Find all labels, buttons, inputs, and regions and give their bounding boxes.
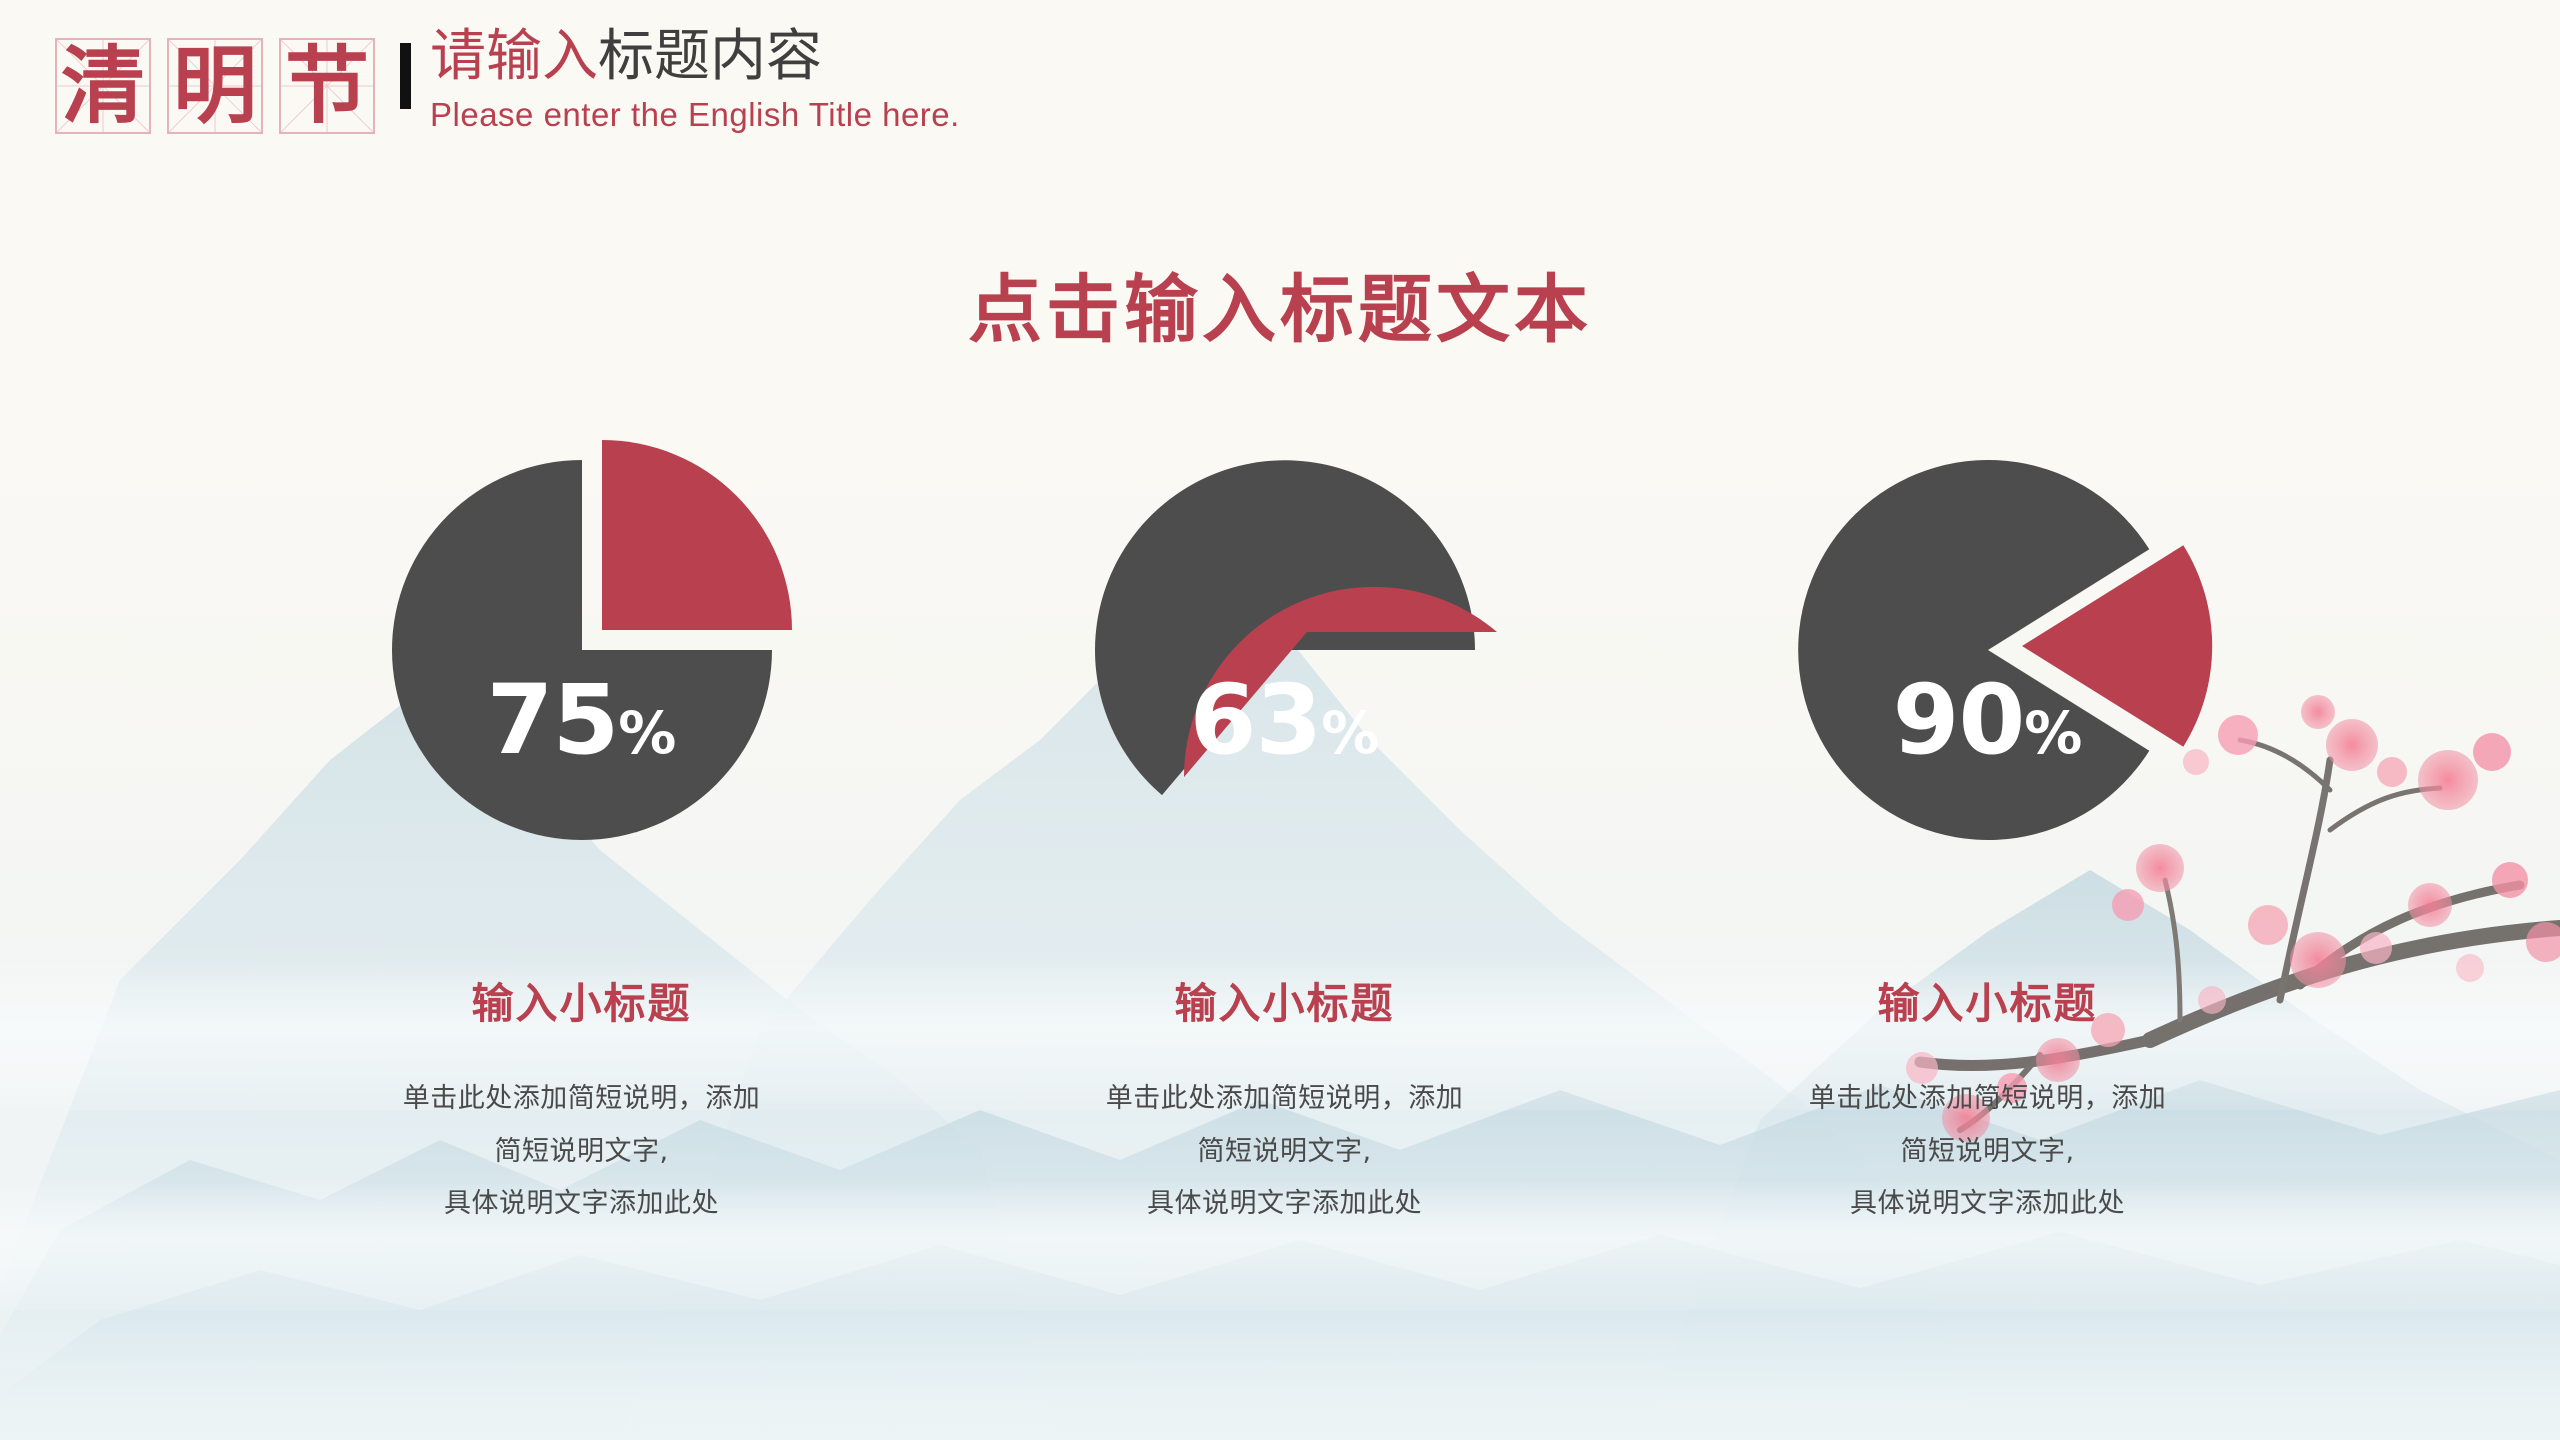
header-divider-bar [400,43,411,109]
pie-chart-1-svg [372,440,792,860]
pie-chart-1[interactable]: 75% [372,440,792,860]
column-body-line: 单击此处添加简短说明，添加 [1708,1073,2268,1126]
pie-column-1: 75% 输入小标题 单击此处添加简短说明，添加 简短说明文字, 具体说明文字添加… [230,440,933,1270]
column-subtitle-2: 输入小标题 [1174,970,1394,1031]
header-title-red: 请输入 [430,24,598,89]
slide-canvas: 清 明 节 [0,0,2560,1440]
header-title-dark: 标题内容 [598,24,822,89]
column-body-1: 单击此处添加简短说明，添加 简短说明文字, 具体说明文字添加此处 [302,1073,862,1231]
column-body-line: 单击此处添加简短说明，添加 [302,1073,862,1126]
column-subtitle-3: 输入小标题 [1877,970,2097,1031]
column-body-line: 简短说明文字, [1708,1126,2268,1179]
pie-chart-3-svg [1778,440,2198,860]
logo-cell-2: 明 [167,38,263,134]
logo-char-3: 节 [285,44,369,128]
page-title: 点击输入标题文本 [0,250,2560,357]
qingming-logo: 清 明 节 [55,38,375,134]
slide-header: 清 明 节 [0,0,2560,190]
logo-cell-1: 清 [55,38,151,134]
pie-columns: 75% 输入小标题 单击此处添加简短说明，添加 简短说明文字, 具体说明文字添加… [230,440,2340,1270]
logo-char-1: 清 [61,44,145,128]
pie-chart-2-svg [1075,440,1495,860]
column-body-2: 单击此处添加简短说明，添加 简短说明文字, 具体说明文字添加此处 [1005,1073,1565,1231]
column-body-line: 简短说明文字, [302,1126,862,1179]
pie-chart-3[interactable]: 90% [1778,440,2198,860]
column-body-line: 具体说明文字添加此处 [1708,1178,2268,1231]
header-title: 请输入标题内容 [430,28,822,87]
column-body-line: 具体说明文字添加此处 [302,1178,862,1231]
column-body-line: 具体说明文字添加此处 [1005,1178,1565,1231]
pie-chart-2[interactable]: 63% [1075,440,1495,860]
pie-column-2: 63% 输入小标题 单击此处添加简短说明，添加 简短说明文字, 具体说明文字添加… [933,440,1636,1270]
logo-cell-3: 节 [279,38,375,134]
column-body-3: 单击此处添加简短说明，添加 简短说明文字, 具体说明文字添加此处 [1708,1073,2268,1231]
column-body-line: 简短说明文字, [1005,1126,1565,1179]
pie-column-3: 90% 输入小标题 单击此处添加简短说明，添加 简短说明文字, 具体说明文字添加… [1636,440,2339,1270]
pie-slice-minor [602,440,792,630]
column-subtitle-1: 输入小标题 [471,970,691,1031]
pie-slice-exploded-group [602,440,792,630]
logo-char-2: 明 [173,44,257,128]
column-body-line: 单击此处添加简短说明，添加 [1005,1073,1565,1126]
header-subtitle-english: Please enter the English Title here. [430,96,960,134]
